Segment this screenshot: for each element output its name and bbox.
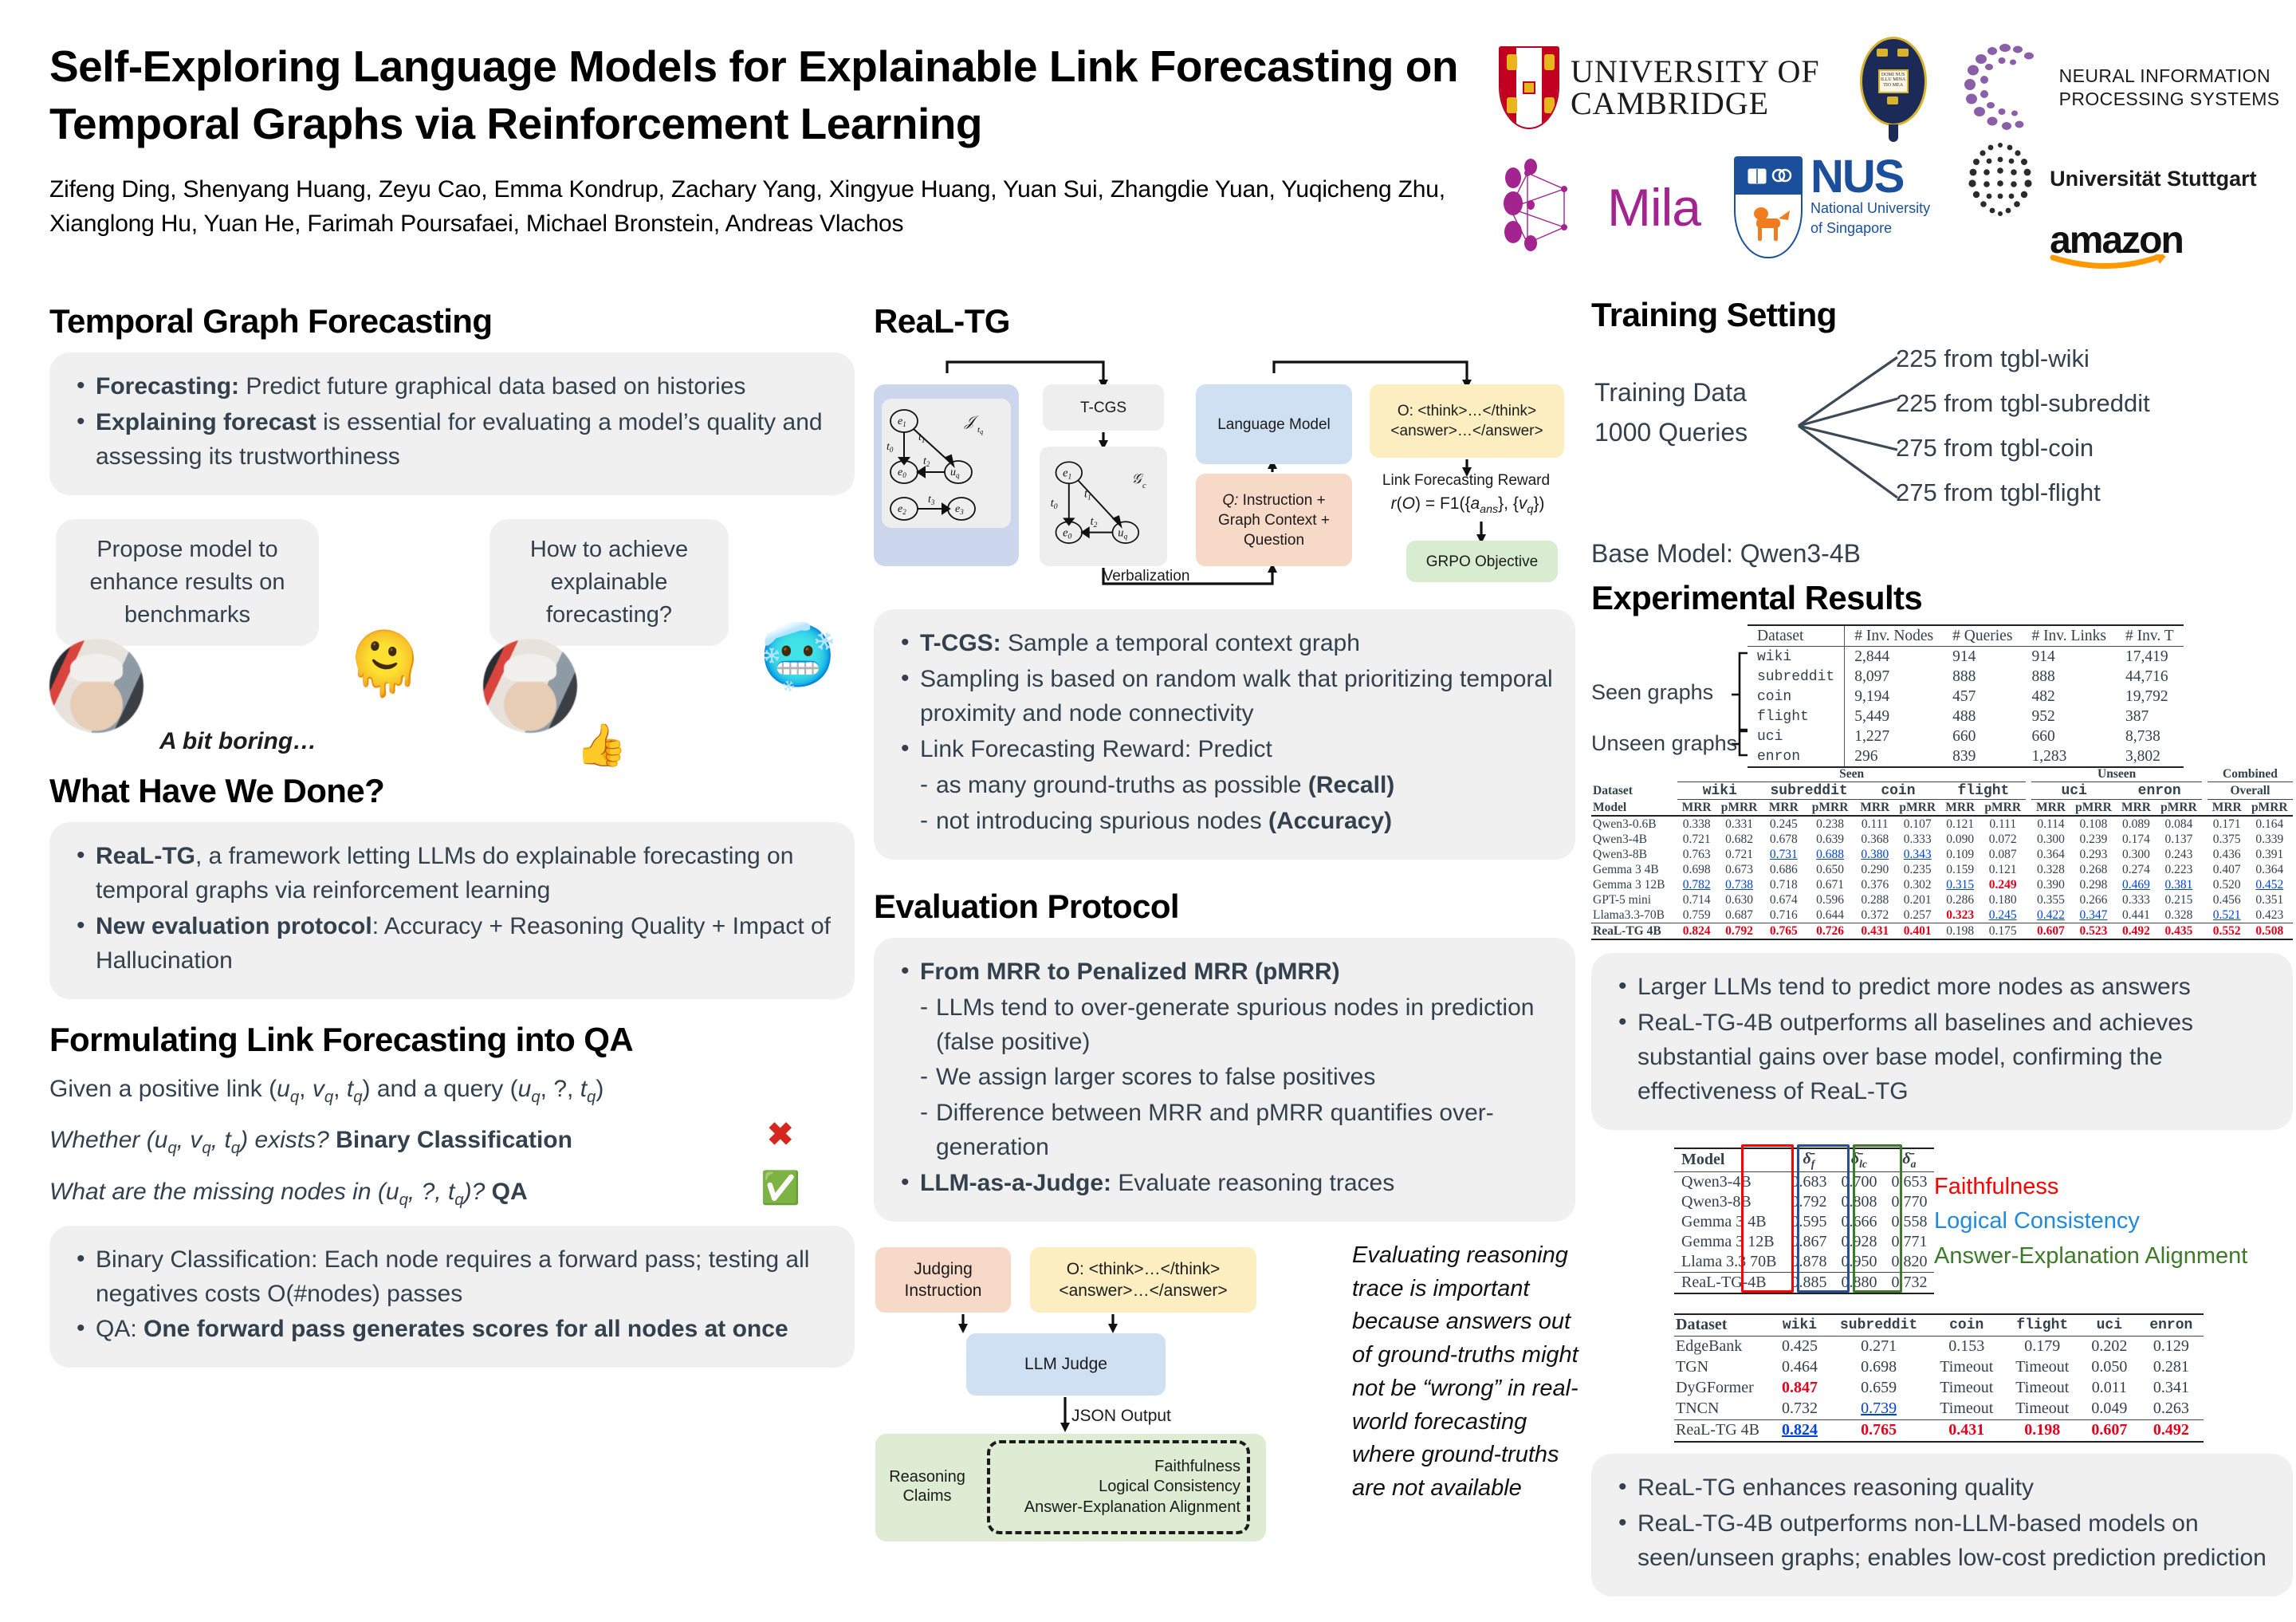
cell-model: Gemma 3 12B <box>1674 1232 1783 1252</box>
check-icon: ✅ <box>761 1172 800 1204</box>
meme-caption: A bit boring… <box>159 728 316 755</box>
cell: 0.452 <box>2247 877 2293 892</box>
cell: 0.243 <box>2156 847 2202 862</box>
spacer <box>2202 877 2208 892</box>
cell: 0.671 <box>1805 877 1856 892</box>
amazon-smile-icon <box>2050 254 2169 270</box>
cell: 2,844 <box>1845 647 1943 667</box>
cell: 0.770 <box>1884 1192 1934 1212</box>
th-pmrr: pMRR <box>2070 800 2117 817</box>
cell: 0.300 <box>2117 847 2156 862</box>
cell: 0.763 <box>1677 847 1716 862</box>
card-evaluation-protocol: From MRR to Penalized MRR (pMRR) LLMs te… <box>874 938 1575 1222</box>
cell: 0.391 <box>2247 847 2293 862</box>
cell: 0.436 <box>2208 847 2247 862</box>
cell: 0.257 <box>1894 907 1940 923</box>
cell: 0.107 <box>1894 816 1940 832</box>
list-item: LLM-as-a-Judge: Evaluate reasoning trace… <box>896 1167 1553 1201</box>
cell: 0.114 <box>2031 816 2070 832</box>
cell: 0.558 <box>1884 1212 1934 1232</box>
list-item: not introducing spurious nodes (Accuracy… <box>896 805 1553 839</box>
cell: 0.364 <box>2031 847 2070 862</box>
neurips-wordmark: NEURAL INFORMATION PROCESSING SYSTEMS <box>2059 65 2280 111</box>
svg-text:uq: uq <box>1118 527 1127 541</box>
legend-logical-consistency: Logical Consistency <box>1934 1204 2247 1239</box>
spacer <box>2202 816 2208 832</box>
card-t-cgs: T-CGS: Sample a temporal context graph S… <box>874 609 1575 859</box>
cell: 0.867 <box>1783 1232 1834 1252</box>
svg-text:tq: tq <box>977 425 983 435</box>
fan-lines <box>1784 346 1904 522</box>
th-coin: coin <box>1928 1314 2004 1337</box>
section-title-formulating-qa: Formulating Link Forecasting into QA <box>49 1022 855 1058</box>
th-subreddit: subreddit <box>1763 782 1856 800</box>
cell: 0.721 <box>1677 832 1716 847</box>
svg-text:e1: e1 <box>1063 467 1071 482</box>
cell: 0.323 <box>1940 907 1980 923</box>
cell: 0.650 <box>1805 862 1856 877</box>
bullet-text: not introducing spurious nodes <box>936 808 1268 834</box>
cell: 457 <box>1943 687 2022 707</box>
spacer <box>2202 923 2208 940</box>
card-conclusions: ReaL-TG enhances reasoning quality ReaL-… <box>1591 1454 2293 1596</box>
column-right: Training Setting Training Data 1000 Quer… <box>1591 297 2293 1596</box>
cell: 0.011 <box>2080 1378 2138 1399</box>
judge-input-output-box: O: <think>…</think> <answer>…</answer> <box>1030 1247 1256 1313</box>
cell: 0.595 <box>1783 1212 1834 1232</box>
cell: 0.726 <box>1805 923 1856 940</box>
cell: 0.401 <box>1894 923 1940 940</box>
nus-shield-icon <box>1734 156 1803 258</box>
list-item: ReaL-TG-4B outperforms all baselines and… <box>1614 1006 2270 1109</box>
list-item: LLMs tend to over-generate spurious node… <box>896 991 1553 1060</box>
cell: 0.338 <box>1677 816 1716 832</box>
list-item: QA: One forward pass generates scores fo… <box>72 1313 832 1347</box>
cell: 0.698 <box>1677 862 1716 877</box>
cell: 0.687 <box>1716 907 1762 923</box>
nus-acronym: NUS <box>1810 156 1930 198</box>
cell: 0.175 <box>1980 923 2026 940</box>
judge-output-line-2: <answer>…</answer> <box>1059 1281 1227 1300</box>
cell-model: ReaL-TG 4B <box>1674 1419 1771 1442</box>
cell: 0.639 <box>1805 832 1856 847</box>
spacer <box>2202 862 2208 877</box>
cell: 0.315 <box>1940 877 1980 892</box>
cell: 0.644 <box>1805 907 1856 923</box>
spacer <box>2026 832 2031 847</box>
cell: 0.198 <box>2004 1419 2080 1442</box>
cell: 0.381 <box>2156 877 2202 892</box>
bullet-text: QA: <box>96 1316 143 1342</box>
cell: 0.281 <box>2138 1357 2204 1378</box>
training-split-flight: 275 from tgbl-flight <box>1896 480 2150 505</box>
bullet-text: Larger LLMs tend to predict more nodes a… <box>1637 974 2191 1000</box>
th-overall: Overall <box>2208 782 2293 800</box>
cell: 0.108 <box>2070 816 2117 832</box>
svg-text:e1: e1 <box>898 415 906 428</box>
cell: 0.469 <box>2117 877 2156 892</box>
cell: 8,097 <box>1845 667 1943 687</box>
json-output-label: JSON Output <box>1071 1407 1171 1426</box>
cell: 0.425 <box>1771 1336 1829 1357</box>
table-row: DyGFormer0.8470.659TimeoutTimeout0.0110.… <box>1674 1378 2204 1399</box>
cell-model: Llama3.3-70B <box>1591 907 1677 923</box>
th-wiki: wiki <box>1771 1314 1829 1337</box>
section-title-temporal-graph-forecasting: Temporal Graph Forecasting <box>49 303 855 340</box>
cell-dataset: enron <box>1748 746 1845 767</box>
amazon-wordmark: amazon <box>2050 223 2183 258</box>
cell: 0.885 <box>1783 1272 1834 1293</box>
bullet-bold: T-CGS: <box>920 630 1001 656</box>
amazon-logo: amazon <box>2050 223 2183 274</box>
group-seen: Seen <box>1677 766 2027 782</box>
hot-face-icon: 🫠 <box>346 632 423 695</box>
cell: 0.824 <box>1677 923 1716 940</box>
cell-model: TGN <box>1674 1357 1771 1378</box>
cell-model: DyGFormer <box>1674 1378 1771 1399</box>
cell: Timeout <box>2004 1378 2080 1399</box>
verbalization-label: Verbalization <box>1083 568 1210 585</box>
cell: 0.109 <box>1940 847 1980 862</box>
th-subreddit: subreddit <box>1829 1314 1928 1337</box>
cell: 0.351 <box>2247 892 2293 907</box>
cell: 0.607 <box>2080 1419 2138 1442</box>
cell: 0.508 <box>2247 923 2293 940</box>
th-queries: # Queries <box>1943 625 2022 647</box>
spacer <box>2202 892 2208 907</box>
context-graph: e1 e0 uq t0 t1 t2 𝒢 c <box>1046 451 1161 562</box>
cambridge-line2: CAMBRIDGE <box>1571 88 1820 119</box>
faithfulness-table: Model δ̄f δ̄lc δ̄a Qwen3-4B0.6830.7000.6… <box>1674 1148 1934 1294</box>
oxford-stem-icon <box>1889 124 1898 142</box>
th-mrr: MRR <box>1940 800 1980 817</box>
bullet-text: LLMs tend to over-generate spurious node… <box>936 994 1534 1055</box>
bullet-text: ReaL-TG-4B outperforms all baselines and… <box>1637 1010 2193 1104</box>
cell: 0.738 <box>1716 877 1762 892</box>
th-inv-nodes: # Inv. Nodes <box>1845 625 1943 647</box>
table-row: Gemma 3 12B0.7820.7380.7180.6710.3760.30… <box>1591 877 2293 892</box>
cell: 0.129 <box>2138 1336 2204 1357</box>
section-title-what-have-we-done: What Have We Done? <box>49 773 855 809</box>
cell: 0.266 <box>2070 892 2117 907</box>
cell: 0.300 <box>2031 832 2070 847</box>
brace-group: Seen graphs Unseen graphs <box>1591 624 1748 762</box>
cell: 888 <box>2022 667 2116 687</box>
cell: 0.380 <box>1855 847 1894 862</box>
cell: 0.721 <box>1716 847 1762 862</box>
mila-wordmark: Mila <box>1607 177 1700 238</box>
cell: 0.341 <box>2138 1378 2204 1399</box>
th-coin: coin <box>1855 782 1940 800</box>
mila-logo: Mila <box>1499 154 1700 261</box>
cambridge-line1: UNIVERSITY OF <box>1571 56 1820 87</box>
neurips-line1: NEURAL INFORMATION <box>2059 65 2280 88</box>
cell: 0.782 <box>1677 877 1716 892</box>
cell: 0.111 <box>1980 816 2026 832</box>
output-line-2: <answer>…</answer> <box>1390 423 1543 439</box>
list-item: From MRR to Penalized MRR (pMRR) <box>896 955 1553 990</box>
nus-sub1: National University <box>1810 200 1930 218</box>
stuttgart-wordmark: Universität Stuttgart <box>2050 167 2257 191</box>
cell: 0.596 <box>1805 892 1856 907</box>
section-title-experimental-results: Experimental Results <box>1591 580 2293 616</box>
cell: 0.355 <box>2031 892 2070 907</box>
cell: 0.215 <box>2156 892 2202 907</box>
cell-dataset: subreddit <box>1748 667 1845 687</box>
bullet-bold: Forecasting: <box>96 373 239 400</box>
nus-sub2: of Singapore <box>1810 220 1930 238</box>
th-flight: flight <box>2004 1314 2080 1337</box>
cell: 660 <box>2022 726 2116 746</box>
legend-faithfulness: Faithfulness <box>1934 1170 2247 1205</box>
th-dataset: Dataset <box>1591 782 1677 800</box>
cell: 0.422 <box>2031 907 2070 923</box>
cell-model: EdgeBank <box>1674 1336 1771 1357</box>
cell: 0.520 <box>2208 877 2247 892</box>
bullet-text: Sample a temporal context graph <box>1001 630 1360 656</box>
cell: 0.202 <box>2080 1336 2138 1357</box>
cell: 0.239 <box>2070 832 2117 847</box>
cell: 0.245 <box>1763 816 1805 832</box>
cell: 0.328 <box>2031 862 2070 877</box>
cell: 0.290 <box>1855 862 1894 877</box>
brace-label-seen: Seen graphs <box>1591 680 1713 705</box>
oxford-logo: DOMI NUS ILLU MINA TIO MEA <box>1855 35 1932 140</box>
cell: 0.792 <box>1716 923 1762 940</box>
th-dataset: Dataset <box>1674 1314 1771 1337</box>
table-row: ReaL-TG 4B0.8240.7920.7650.7260.4310.401… <box>1591 923 2293 940</box>
cell: 0.235 <box>1894 862 1940 877</box>
cambridge-shield-icon <box>1499 46 1559 129</box>
cell: 0.674 <box>1763 892 1805 907</box>
cell: 387 <box>2116 707 2184 726</box>
spacer <box>2026 816 2031 832</box>
svg-text:t0: t0 <box>1051 497 1058 511</box>
cell: 0.050 <box>2080 1357 2138 1378</box>
cell: 0.464 <box>1771 1357 1829 1378</box>
stuttgart-amazon-block: Universität Stuttgart amazon <box>1962 140 2257 274</box>
cambridge-wordmark: UNIVERSITY OF CAMBRIDGE <box>1571 56 1820 118</box>
cell: 0.435 <box>2156 923 2202 940</box>
table-row: Qwen3-4B0.7210.6820.6780.6390.3680.3330.… <box>1591 832 2293 847</box>
model-output-box: O: <think>…</think> <answer>…</answer> <box>1370 384 1564 458</box>
cell: 0.824 <box>1771 1419 1829 1442</box>
cell: 0.174 <box>2117 832 2156 847</box>
reward-title-label: Link Forecasting Reward <box>1362 472 1571 490</box>
bullet-bold: (Recall) <box>1308 772 1394 798</box>
bullet-bold: From MRR to Penalized MRR (pMRR) <box>920 959 1340 985</box>
baselines-table: Dataset wiki subreddit coin flight uci e… <box>1674 1313 2204 1443</box>
bullet-bold: New evaluation protocol <box>96 913 372 939</box>
table-row: ReaL-TG 4B0.8240.7650.4310.1980.6070.492 <box>1674 1419 2204 1442</box>
th-uci: uci <box>2031 782 2117 800</box>
cell: 19,792 <box>2116 687 2184 707</box>
cell: 0.223 <box>2156 862 2202 877</box>
side-note-text: Evaluating reasoning trace is important … <box>1352 1239 1583 1506</box>
speech-bubble-1: Propose model to enhance results on benc… <box>56 519 319 647</box>
cell: 0.245 <box>1980 907 2026 923</box>
cell: 5,449 <box>1845 707 1943 726</box>
cell: 1,283 <box>2022 746 2116 767</box>
cell: 0.771 <box>1884 1232 1934 1252</box>
judge-output-line-1: O: <think>…</think> <box>1067 1260 1221 1278</box>
section-title-evaluation-protocol: Evaluation Protocol <box>874 888 1575 925</box>
cell: 0.808 <box>1834 1192 1884 1212</box>
list-item: We assign larger scores to false positiv… <box>896 1061 1553 1095</box>
cell: 0.201 <box>1894 892 1940 907</box>
thumbs-up-icon: 👍 <box>576 725 627 766</box>
section-title-training-setting: Training Setting <box>1591 297 2293 333</box>
nus-logo: NUS National University of Singapore <box>1734 156 1930 258</box>
th-wiki: wiki <box>1677 782 1763 800</box>
svg-text:t2: t2 <box>1091 515 1098 530</box>
mila-graph-icon <box>1499 154 1598 261</box>
cell: 0.111 <box>1855 816 1894 832</box>
cell-model: GPT-5 mini <box>1591 892 1677 907</box>
cell: 0.552 <box>2208 923 2247 940</box>
cell: 0.431 <box>1855 923 1894 940</box>
llm-judge-diagram: Judging Instruction O: <think>…</think> … <box>874 1239 1320 1558</box>
cell: Timeout <box>1928 1378 2004 1399</box>
cell: 488 <box>1943 707 2022 726</box>
training-data-line1: Training Data <box>1594 373 1748 413</box>
logo-bar: UNIVERSITY OF CAMBRIDGE DOMI NUS ILLU MI… <box>1499 33 2280 265</box>
brace-label-unseen: Unseen graphs <box>1591 731 1737 756</box>
bullet-text: We assign larger scores to false positiv… <box>936 1064 1375 1090</box>
cell: 0.179 <box>2004 1336 2080 1357</box>
table-row: GPT-5 mini0.7140.6300.6740.5960.2880.201… <box>1591 892 2293 907</box>
spacer <box>2026 877 2031 892</box>
cell-model: Llama 3.3 70B <box>1674 1252 1783 1273</box>
qa-binary-label: Binary Classification <box>336 1127 572 1153</box>
list-item: Binary Classification: Each node require… <box>72 1243 832 1312</box>
speech-bubble-2: How to achieve explainable forecasting? <box>489 519 729 647</box>
cell: 0.263 <box>2138 1399 2204 1420</box>
cell: 0.732 <box>1771 1399 1829 1420</box>
oxford-book-icon: DOMI NUS ILLU MINA TIO MEA <box>1878 69 1909 93</box>
cell-model: Qwen3-8B <box>1591 847 1677 862</box>
bullet-text: ReaL-TG-4B outperforms non-LLM-based mod… <box>1637 1510 2267 1571</box>
card-temporal-graph-forecasting: Forecasting: Predict future graphical da… <box>49 352 855 495</box>
list-item: Explaining forecast is essential for eva… <box>72 406 832 474</box>
th-inv-links: # Inv. Links <box>2022 625 2116 647</box>
cell: 8,738 <box>2116 726 2184 746</box>
meme-illustration: Propose model to enhance results on benc… <box>49 519 855 758</box>
bullet-text: Sampling is based on random walk that pr… <box>920 666 1553 726</box>
cell-model: ReaL-TG-4B <box>1674 1272 1783 1293</box>
list-item: ReaL-TG-4B outperforms non-LLM-based mod… <box>1614 1507 2270 1576</box>
cell: 0.686 <box>1763 862 1805 877</box>
avatar <box>49 639 143 733</box>
avatar <box>483 639 577 733</box>
th-pmrr: pMRR <box>2156 800 2202 817</box>
group-unseen: Unseen <box>2031 766 2202 782</box>
cell: 0.121 <box>1940 816 1980 832</box>
th-delta-lc: δ̄lc <box>1834 1148 1884 1172</box>
cell: 0.274 <box>2117 862 2156 877</box>
cell: 0.331 <box>1716 816 1762 832</box>
bullet-bold: (Accuracy) <box>1268 808 1392 834</box>
th-pmrr: pMRR <box>1716 800 1762 817</box>
bullet-text: Link Forecasting Reward: Predict <box>920 736 1272 762</box>
cell-dataset: wiki <box>1748 647 1845 667</box>
cell: 0.698 <box>1829 1357 1928 1378</box>
cell: 0.523 <box>2070 923 2117 940</box>
metric-faithfulness: Faithfulness <box>1154 1457 1240 1477</box>
cell: 0.765 <box>1763 923 1805 940</box>
cell: 0.731 <box>1763 847 1805 862</box>
cell-model: Gemma 3 4B <box>1591 862 1677 877</box>
cell: 0.765 <box>1829 1419 1928 1442</box>
cell: 888 <box>1943 667 2022 687</box>
history-graph: e1 e0 uq e2 e3 t0 t1 t2 t3 𝒥 tq <box>882 399 1011 528</box>
cell: 0.950 <box>1834 1252 1884 1273</box>
th-enron: enron <box>2138 1314 2204 1337</box>
column-middle: ReaL-TG <box>874 303 1575 1558</box>
cambridge-logo: UNIVERSITY OF CAMBRIDGE <box>1499 46 1820 129</box>
cell: 0.180 <box>1980 892 2026 907</box>
training-data-fan: Training Data 1000 Queries 225 from tgbl… <box>1591 346 2293 545</box>
cell: 0.607 <box>2031 923 2070 940</box>
cell: 0.347 <box>2070 907 2117 923</box>
cell: 0.630 <box>1716 892 1762 907</box>
card-results-insights: Larger LLMs tend to predict more nodes a… <box>1591 953 2293 1130</box>
faithfulness-legend: Faithfulness Logical Consistency Answer-… <box>1934 1170 2247 1274</box>
cell: 0.456 <box>2208 892 2247 907</box>
cross-icon: ✖ <box>767 1119 794 1151</box>
cell: 0.084 <box>2156 816 2202 832</box>
list-item: Difference between MRR and pMRR quantifi… <box>896 1096 1553 1165</box>
cell: 3,802 <box>2116 746 2184 767</box>
nus-wordmark: NUS National University of Singapore <box>1810 156 1930 237</box>
cell: 0.678 <box>1763 832 1805 847</box>
legend-alignment: Answer-Explanation Alignment <box>1934 1239 2247 1274</box>
th-enron: enron <box>2117 782 2202 800</box>
spacer <box>2026 847 2031 862</box>
column-left: Temporal Graph Forecasting Forecasting: … <box>49 303 855 1368</box>
reward-formula-label: r(O) = F1({aans}, {vq}) <box>1362 494 1574 516</box>
cell: 0.732 <box>1884 1272 1934 1293</box>
training-split-list: 225 from tgbl-wiki 225 from tgbl-subredd… <box>1896 346 2150 525</box>
th-pmrr: pMRR <box>1805 800 1856 817</box>
svg-text:c: c <box>1142 482 1146 490</box>
cell: Timeout <box>1928 1399 2004 1420</box>
cell: 0.688 <box>1805 847 1856 862</box>
cell: 0.286 <box>1940 892 1980 907</box>
training-split-wiki: 225 from tgbl-wiki <box>1896 346 2150 371</box>
svg-text:t2: t2 <box>923 455 930 468</box>
real-tg-pipeline-diagram: q = (uq, ?, tq) <box>874 352 1575 592</box>
th-mrr: MRR <box>1855 800 1894 817</box>
cell: 0.407 <box>2208 862 2247 877</box>
bullet-text: Binary Classification: Each node require… <box>96 1246 809 1307</box>
svg-text:e2: e2 <box>898 503 906 516</box>
cell: 0.376 <box>1855 877 1894 892</box>
list-item: ReaL-TG enhances reasoning quality <box>1614 1471 2270 1506</box>
question-input-box: Q: Instruction + Graph Context + Questio… <box>1196 474 1352 566</box>
page-title: Self-Exploring Language Models for Expla… <box>49 38 1500 152</box>
cell: 0.759 <box>1677 907 1716 923</box>
llm-judge-box: LLM Judge <box>966 1333 1166 1396</box>
training-data-line2: 1000 Queries <box>1594 413 1748 453</box>
title-block: Self-Exploring Language Models for Expla… <box>49 38 1500 241</box>
qa-line-given: Given a positive link (uq, vq, tq) and a… <box>49 1071 855 1110</box>
svg-text:e0: e0 <box>898 467 906 479</box>
th-pmrr: pMRR <box>1980 800 2026 817</box>
table-row: Llama3.3-70B0.7590.6870.7160.6440.3720.2… <box>1591 907 2293 923</box>
cell: 0.390 <box>2031 877 2070 892</box>
output-line-1: O: <think>…</think> <box>1398 403 1536 419</box>
